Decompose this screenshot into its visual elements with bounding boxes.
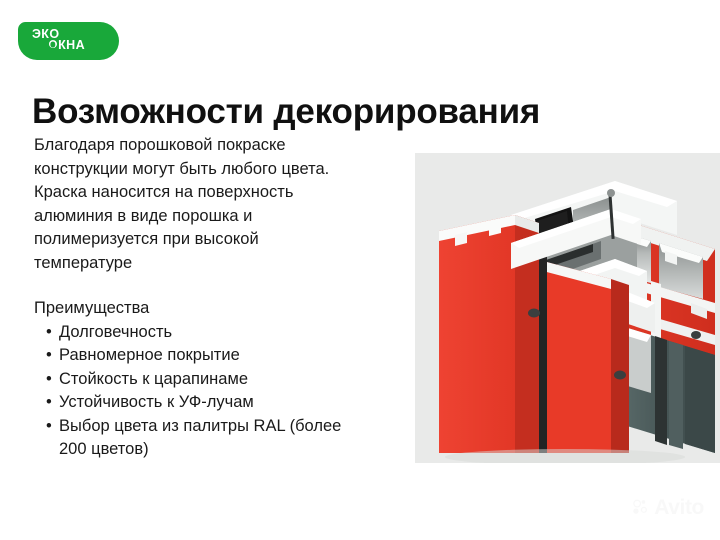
brand-logo-line-bottom: ОКНА <box>48 39 85 52</box>
list-item: Выбор цвета из палитры RAL (более 200 цв… <box>34 415 354 462</box>
product-image <box>415 153 720 463</box>
avito-watermark: Avito <box>632 497 704 518</box>
benefits-list: Долговечность Равномерное покрытие Стойк… <box>34 321 354 462</box>
list-item: Долговечность <box>34 321 354 345</box>
intro-paragraph: Благодаря порошковой покраске конструкци… <box>34 134 354 275</box>
avito-logo-icon <box>632 498 651 517</box>
avito-watermark-label: Avito <box>654 497 704 518</box>
brand-logo-lockup: ЭКО ОКНА <box>32 27 108 55</box>
benefits-heading: Преимущества <box>34 275 354 321</box>
list-item: Стойкость к царапинаме <box>34 368 354 392</box>
brand-logo[interactable]: ЭКО ОКНА <box>18 22 119 60</box>
list-item: Равномерное покрытие <box>34 344 354 368</box>
aluminium-profile-illustration <box>415 153 720 463</box>
text-column: Благодаря порошковой покраске конструкци… <box>34 134 354 462</box>
page-title: Возможности декорирования <box>32 93 692 132</box>
slide-root: ЭКО ОКНА Возможности декорирования Благо… <box>0 0 720 540</box>
list-item: Устойчивость к УФ-лучам <box>34 391 354 415</box>
